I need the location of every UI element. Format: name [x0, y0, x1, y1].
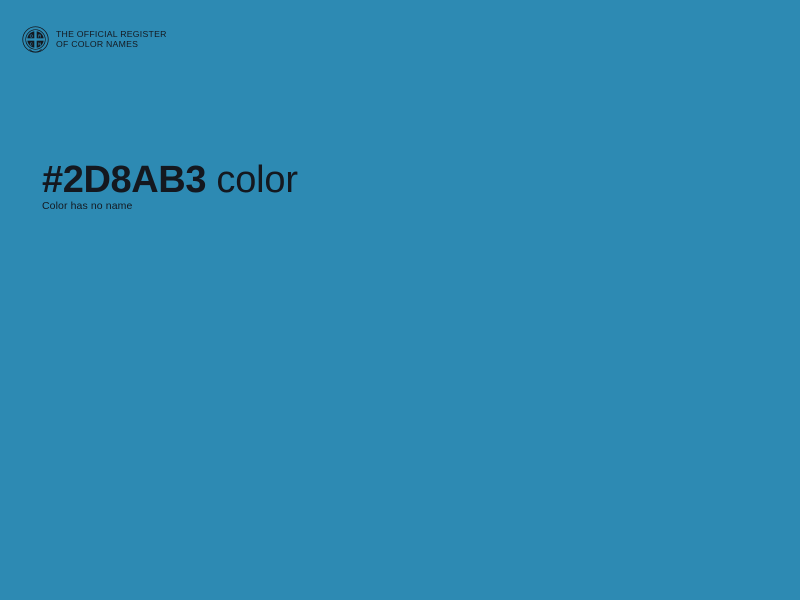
page-title-suffix: [206, 159, 216, 201]
masthead-line-2: OF COLOR NAMES: [56, 40, 167, 49]
hex-code-value: #2D8AB3: [42, 159, 206, 201]
svg-text:R: R: [38, 34, 41, 39]
masthead-wordmark: THE OFFICIAL REGISTER OF COLOR NAMES: [56, 30, 167, 48]
page-title-suffix-word: color: [216, 159, 297, 201]
color-detail-page: O R C N THE OFFICIAL REGISTER OF COLOR N…: [0, 0, 800, 600]
page-title: #2D8AB3 color: [42, 157, 298, 203]
orcn-seal-icon: O R C N: [22, 26, 49, 53]
color-swatch-background: [0, 0, 800, 600]
site-masthead[interactable]: O R C N THE OFFICIAL REGISTER OF COLOR N…: [22, 26, 167, 53]
svg-text:C: C: [30, 42, 33, 47]
color-name-status: Color has no name: [42, 199, 132, 213]
svg-text:N: N: [38, 42, 41, 47]
